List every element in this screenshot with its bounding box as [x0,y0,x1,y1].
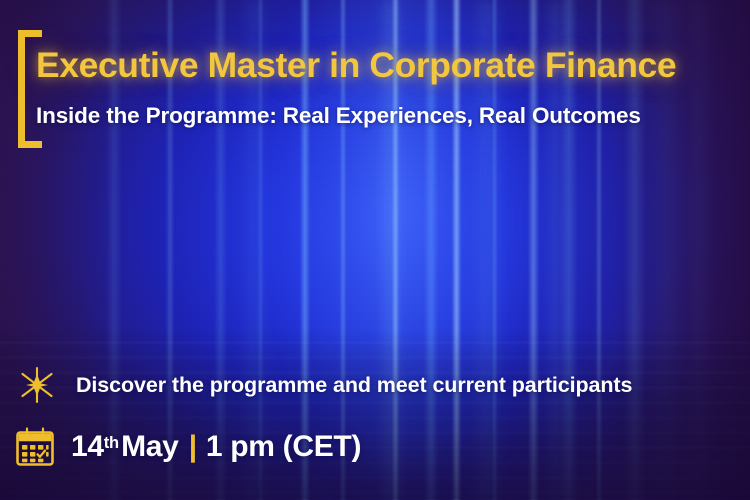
date-time-text: 14th May | 1 pm (CET) [71,430,361,464]
calendar-icon [12,424,58,470]
date-row: 14th May | 1 pm (CET) [12,424,361,470]
page-title: Executive Master in Corporate Finance [36,46,742,86]
webinar-promo-banner: Executive Master in Corporate Finance In… [0,0,750,500]
discover-text: Discover the programme and meet current … [76,373,632,398]
date-day: 14 [71,430,104,464]
date-time: 1 pm (CET) [206,430,361,464]
date-separator: | [189,430,197,464]
discover-row: Discover the programme and meet current … [14,362,632,408]
date-month: May [121,430,178,464]
page-subtitle: Inside the Programme: Real Experiences, … [36,103,742,130]
sparkle-icon [14,362,60,408]
